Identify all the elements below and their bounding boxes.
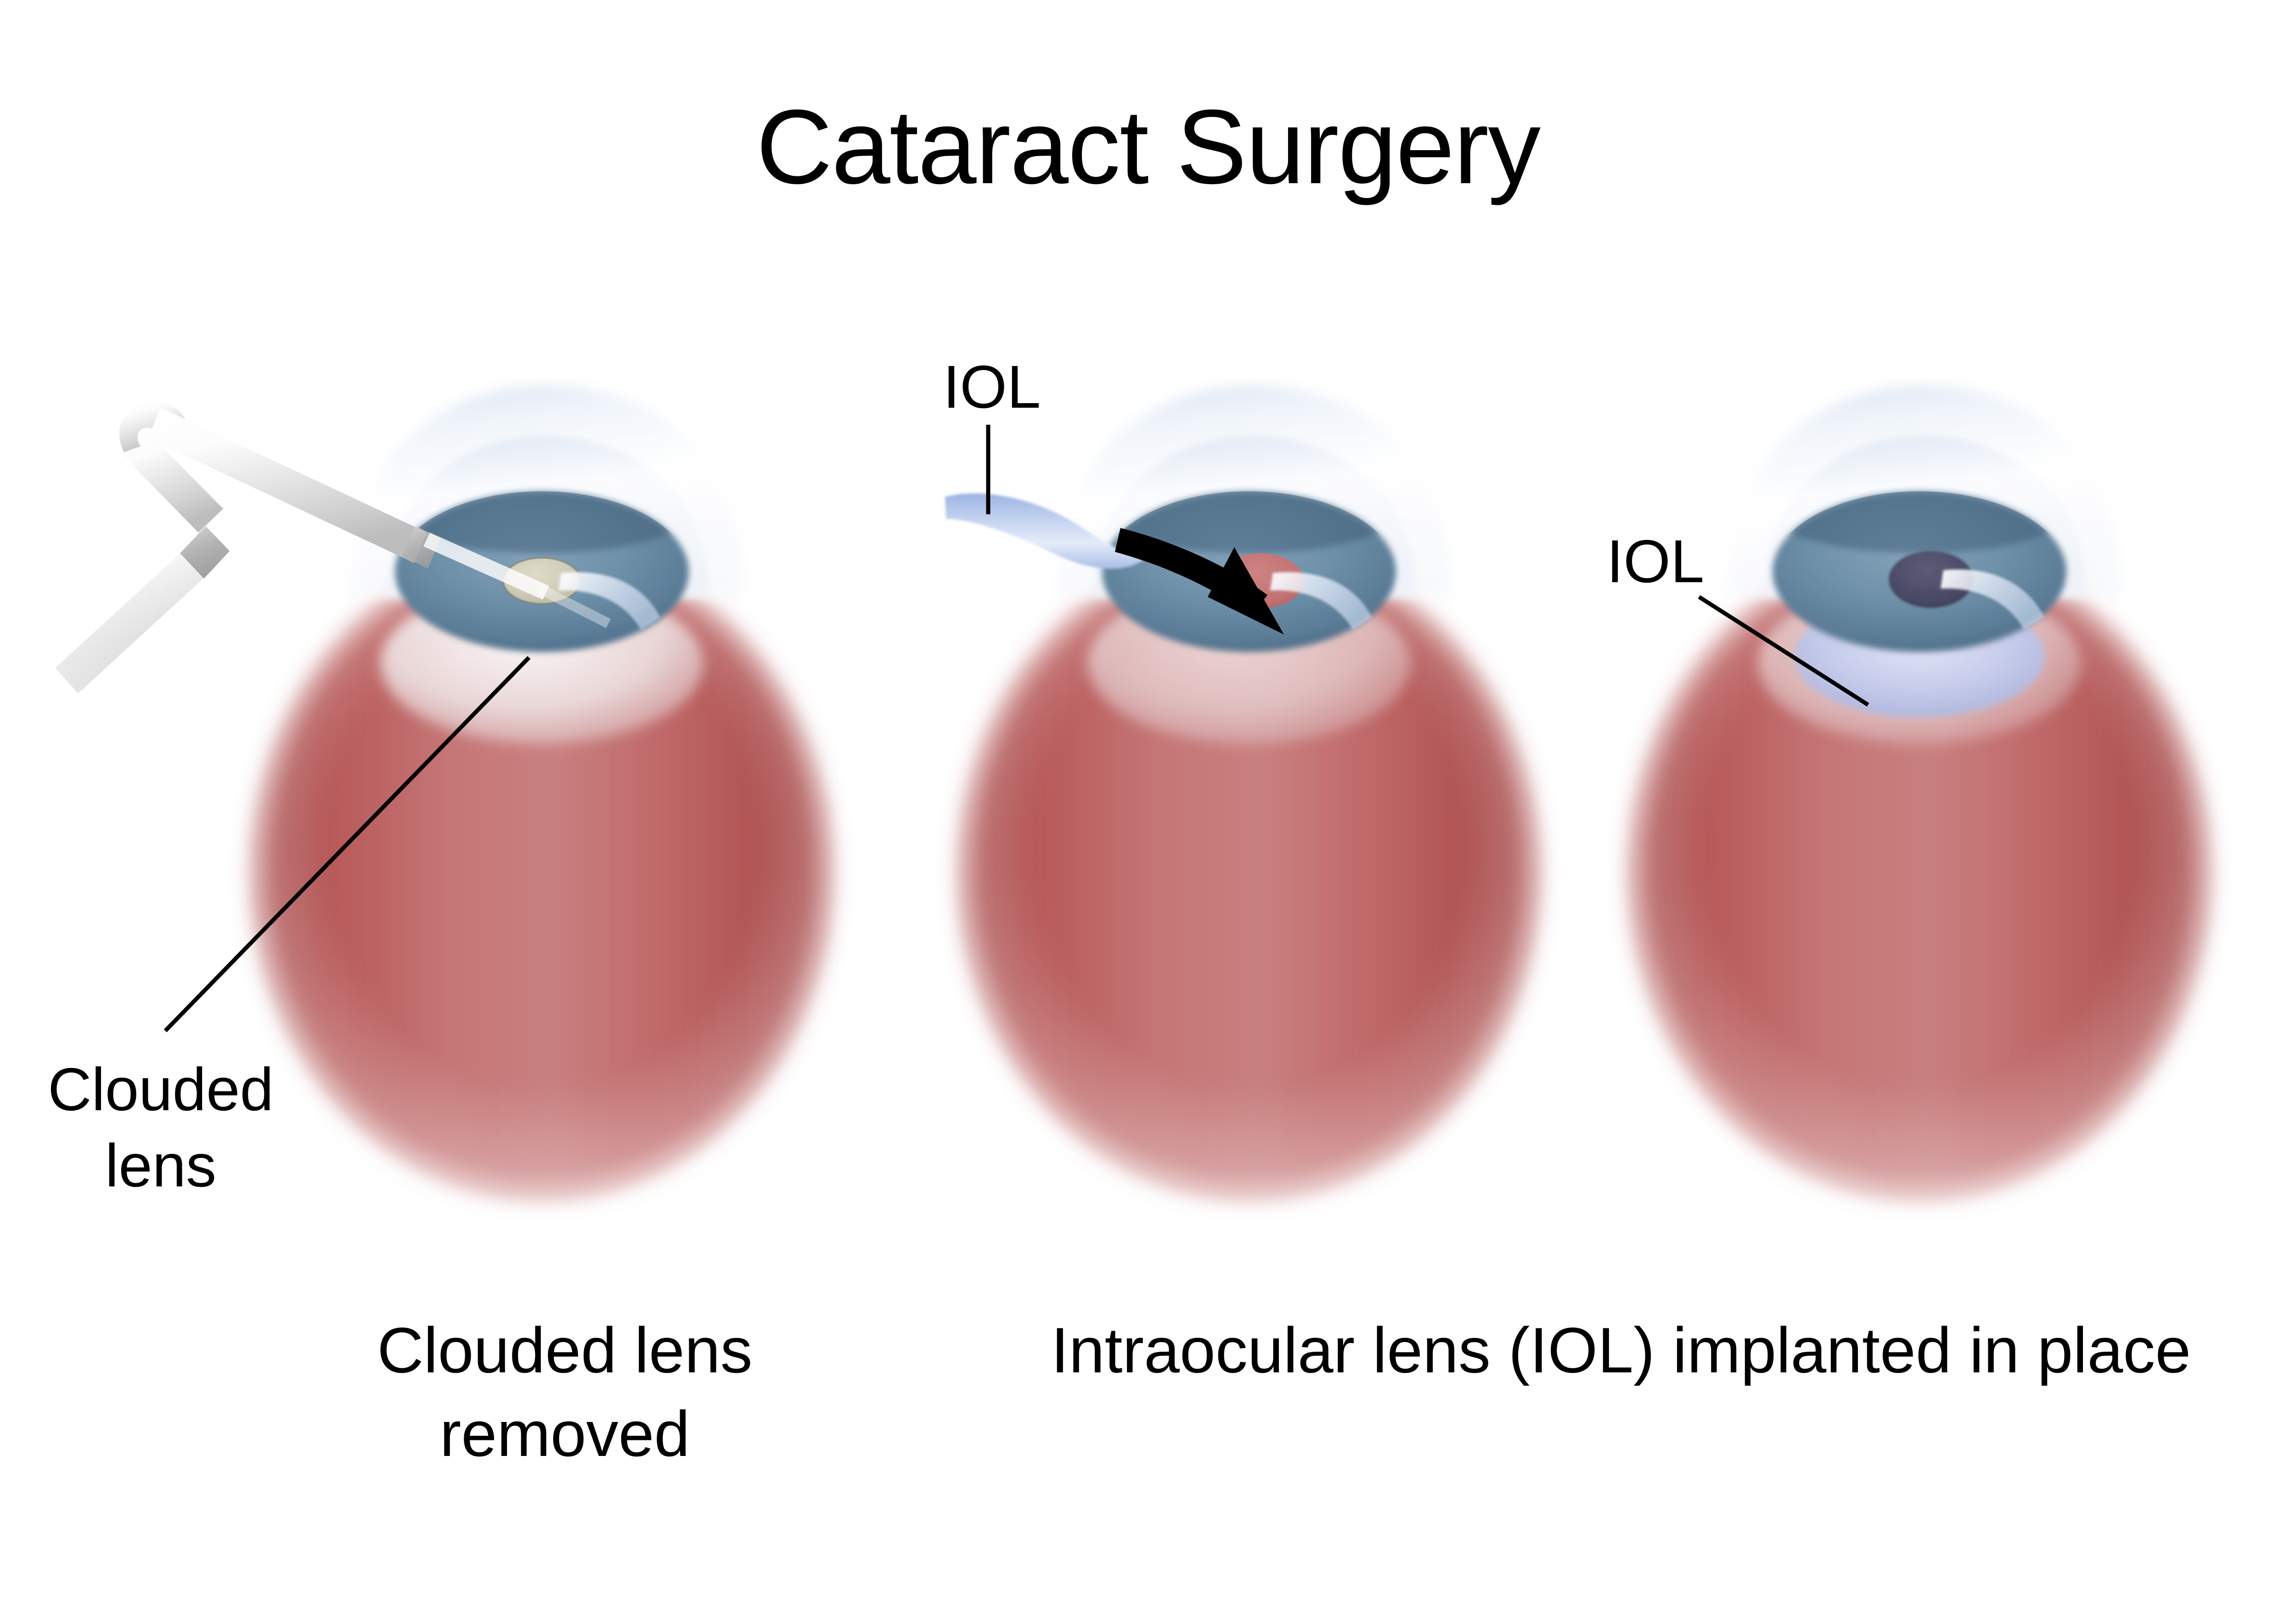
callout-iol-panel3: IOL <box>1580 523 1731 600</box>
caption-iol-implanted: Intraocular lens (IOL) implanted in plac… <box>1001 1309 2241 1392</box>
illustration-page: Cataract Surgery <box>0 0 2296 1607</box>
callout-iol-panel2: IOL <box>916 349 1068 425</box>
caption-clouded-lens-removed: Clouded lens removed <box>243 1309 886 1476</box>
panel-3-eye-diagram <box>1635 386 2204 1194</box>
panel-2-eye-diagram <box>945 386 1534 1194</box>
callout-clouded-lens: Clouded lens <box>18 1051 303 1204</box>
